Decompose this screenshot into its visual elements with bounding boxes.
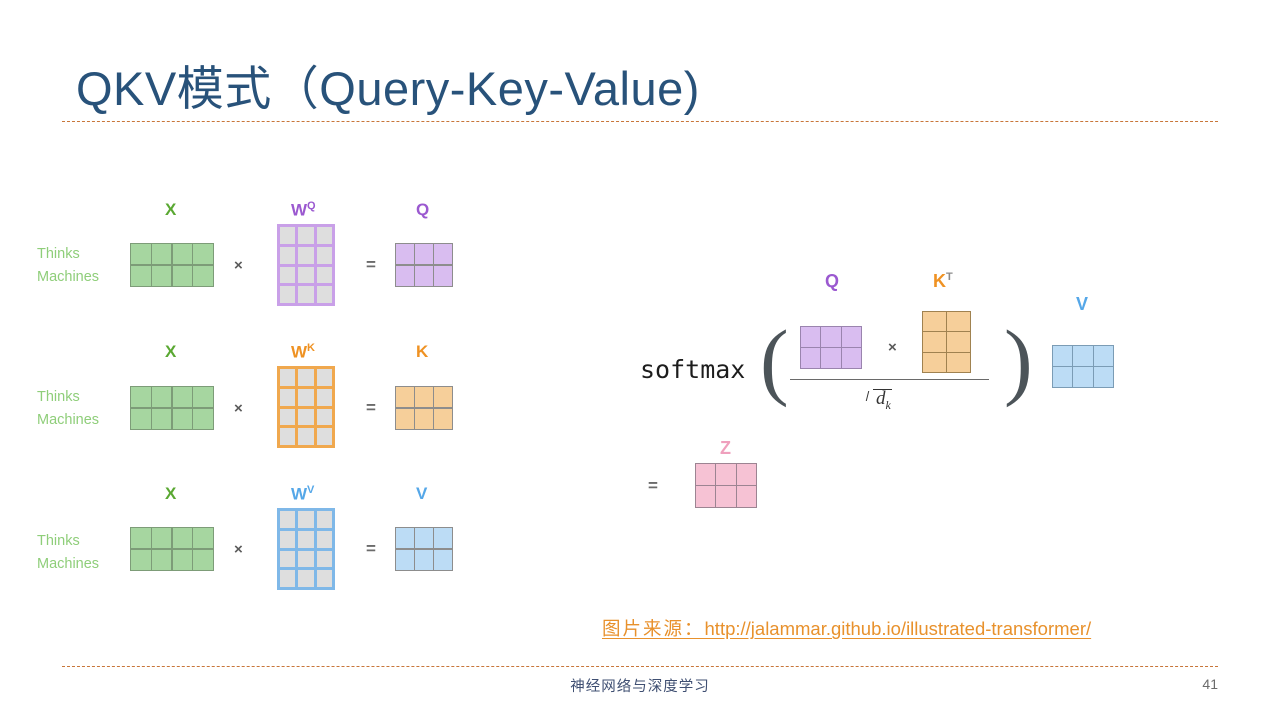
footer-divider [62, 666, 1218, 667]
cell [280, 511, 295, 528]
row1-equals-symbol: = [366, 255, 376, 275]
cell [1053, 346, 1072, 366]
formula-v-label: V [1076, 294, 1088, 315]
cell [396, 528, 414, 548]
cell [131, 266, 151, 286]
formula-matrix-v [1052, 345, 1114, 388]
cell [842, 348, 861, 368]
cell [1094, 346, 1113, 366]
formula-matrix-kt [922, 311, 971, 373]
row1-matrix-q [395, 243, 453, 287]
row2-weight-base: W [291, 343, 307, 362]
page-title: QKV模式（Query-Key-Value) [76, 50, 700, 119]
cell [298, 286, 313, 303]
cell [173, 387, 193, 407]
row3-weight-sup: V [307, 484, 314, 496]
row1-weight-sup: Q [307, 200, 316, 212]
cell [1073, 346, 1092, 366]
row2-multiply-symbol: × [234, 400, 243, 417]
cell [280, 286, 295, 303]
cell [801, 327, 820, 347]
cell [131, 550, 151, 570]
cell [1094, 367, 1113, 387]
row3-matrix-wv [277, 508, 335, 590]
cell [716, 486, 735, 507]
row1-input-label: X [165, 200, 176, 220]
cell [317, 247, 332, 264]
fraction-bar [790, 379, 989, 380]
cell [298, 267, 313, 284]
row2-weight-label: WK [291, 342, 315, 363]
token-label-thinks: Thinks [37, 246, 80, 262]
cell [280, 570, 295, 587]
cell [434, 528, 452, 548]
cell [434, 387, 452, 407]
cell [131, 387, 151, 407]
cell [193, 528, 213, 548]
denominator-variable: dk [876, 388, 891, 409]
cell [1053, 367, 1072, 387]
cell [280, 267, 295, 284]
cell [317, 409, 332, 426]
formula-multiply-symbol: × [888, 339, 897, 356]
cell [173, 244, 193, 264]
cell [737, 486, 756, 507]
cell [821, 327, 840, 347]
cell [280, 428, 295, 445]
footer-course-title: 神经网络与深度学习 [0, 675, 1280, 696]
formula-matrix-q [800, 326, 862, 369]
open-paren: ( [760, 317, 789, 403]
cell [923, 353, 946, 372]
token-label-thinks: Thinks [37, 533, 80, 549]
cell [280, 389, 295, 406]
row1-matrix-wq [277, 224, 335, 306]
formula-q-label: Q [825, 271, 839, 292]
image-source-link[interactable]: 图片来源：http://jalammar.github.io/illustrat… [602, 615, 1091, 641]
result-z-label: Z [720, 438, 731, 459]
cell [193, 409, 213, 429]
cell [434, 266, 452, 286]
sqrt-icon: dk [866, 386, 891, 413]
token-label-machines: Machines [37, 412, 99, 428]
cell [173, 528, 193, 548]
token-label-machines: Machines [37, 269, 99, 285]
cell [280, 551, 295, 568]
cell [298, 531, 313, 548]
source-prefix: 图片来源： [602, 618, 705, 639]
row2-token-labels: Thinks Machines [37, 386, 99, 432]
cell [280, 409, 295, 426]
cell [280, 531, 295, 548]
dk-sub: k [886, 398, 891, 412]
cell [317, 286, 332, 303]
cell [317, 428, 332, 445]
cell [152, 387, 172, 407]
cell [298, 409, 313, 426]
cell [152, 550, 172, 570]
cell [947, 312, 970, 331]
cell [152, 528, 172, 548]
cell [193, 550, 213, 570]
row1-output-label: Q [416, 200, 429, 220]
row3-weight-base: W [291, 485, 307, 504]
dk-base: d [876, 388, 886, 409]
cell [317, 511, 332, 528]
cell [193, 244, 213, 264]
cell [152, 409, 172, 429]
cell [923, 332, 946, 351]
cell [317, 551, 332, 568]
row1-matrix-x [130, 243, 214, 287]
cell [415, 528, 433, 548]
row2-matrix-k [395, 386, 453, 430]
cell [396, 244, 414, 264]
row3-token-labels: Thinks Machines [37, 530, 99, 576]
softmax-function-label: softmax [640, 355, 745, 384]
formula-kt-sup: T [946, 271, 953, 283]
row1-multiply-symbol: × [234, 257, 243, 274]
row3-matrix-v [395, 527, 453, 571]
cell [923, 312, 946, 331]
row2-output-label: K [416, 342, 428, 362]
row3-output-label: V [416, 484, 427, 504]
formula-kt-label: KT [933, 271, 953, 292]
cell [1073, 367, 1092, 387]
cell [193, 266, 213, 286]
row3-matrix-x [130, 527, 214, 571]
page-number: 41 [1202, 676, 1218, 692]
cell [947, 332, 970, 351]
cell [173, 550, 193, 570]
row3-equals-symbol: = [366, 539, 376, 559]
cell [298, 369, 313, 386]
cell [317, 389, 332, 406]
title-divider [62, 121, 1218, 122]
cell [317, 570, 332, 587]
cell [131, 409, 151, 429]
cell [298, 570, 313, 587]
row1-token-labels: Thinks Machines [37, 243, 99, 289]
row2-weight-sup: K [307, 342, 315, 354]
cell [842, 327, 861, 347]
cell [298, 511, 313, 528]
token-label-machines: Machines [37, 556, 99, 572]
cell [415, 266, 433, 286]
cell [947, 353, 970, 372]
cell [434, 409, 452, 429]
cell [280, 369, 295, 386]
cell [317, 227, 332, 244]
cell [396, 266, 414, 286]
cell [415, 409, 433, 429]
cell [434, 550, 452, 570]
cell [152, 244, 172, 264]
close-paren: ) [1004, 317, 1033, 403]
row1-weight-base: W [291, 201, 307, 220]
row2-equals-symbol: = [366, 398, 376, 418]
cell [152, 266, 172, 286]
cell [396, 550, 414, 570]
row2-matrix-x [130, 386, 214, 430]
cell [415, 387, 433, 407]
cell [131, 528, 151, 548]
cell [317, 267, 332, 284]
result-equals-symbol: = [648, 476, 658, 496]
cell [696, 464, 715, 485]
cell [737, 464, 756, 485]
cell [298, 227, 313, 244]
cell [298, 551, 313, 568]
cell [415, 550, 433, 570]
token-label-thinks: Thinks [37, 389, 80, 405]
row3-input-label: X [165, 484, 176, 504]
cell [317, 531, 332, 548]
cell [317, 369, 332, 386]
cell [298, 389, 313, 406]
result-matrix-z [695, 463, 757, 508]
cell [821, 348, 840, 368]
cell [396, 409, 414, 429]
source-url[interactable]: http://jalammar.github.io/illustrated-tr… [705, 618, 1092, 639]
row2-matrix-wk [277, 366, 335, 448]
row2-input-label: X [165, 342, 176, 362]
cell [396, 387, 414, 407]
row3-weight-label: WV [291, 484, 314, 505]
formula-denominator: dk [866, 386, 891, 413]
row3-multiply-symbol: × [234, 541, 243, 558]
cell [801, 348, 820, 368]
cell [415, 244, 433, 264]
cell [696, 486, 715, 507]
cell [280, 247, 295, 264]
cell [716, 464, 735, 485]
row1-weight-label: WQ [291, 200, 316, 221]
formula-kt-base: K [933, 271, 946, 291]
cell [434, 244, 452, 264]
cell [173, 266, 193, 286]
cell [173, 409, 193, 429]
cell [280, 227, 295, 244]
cell [298, 428, 313, 445]
cell [131, 244, 151, 264]
cell [193, 387, 213, 407]
cell [298, 247, 313, 264]
